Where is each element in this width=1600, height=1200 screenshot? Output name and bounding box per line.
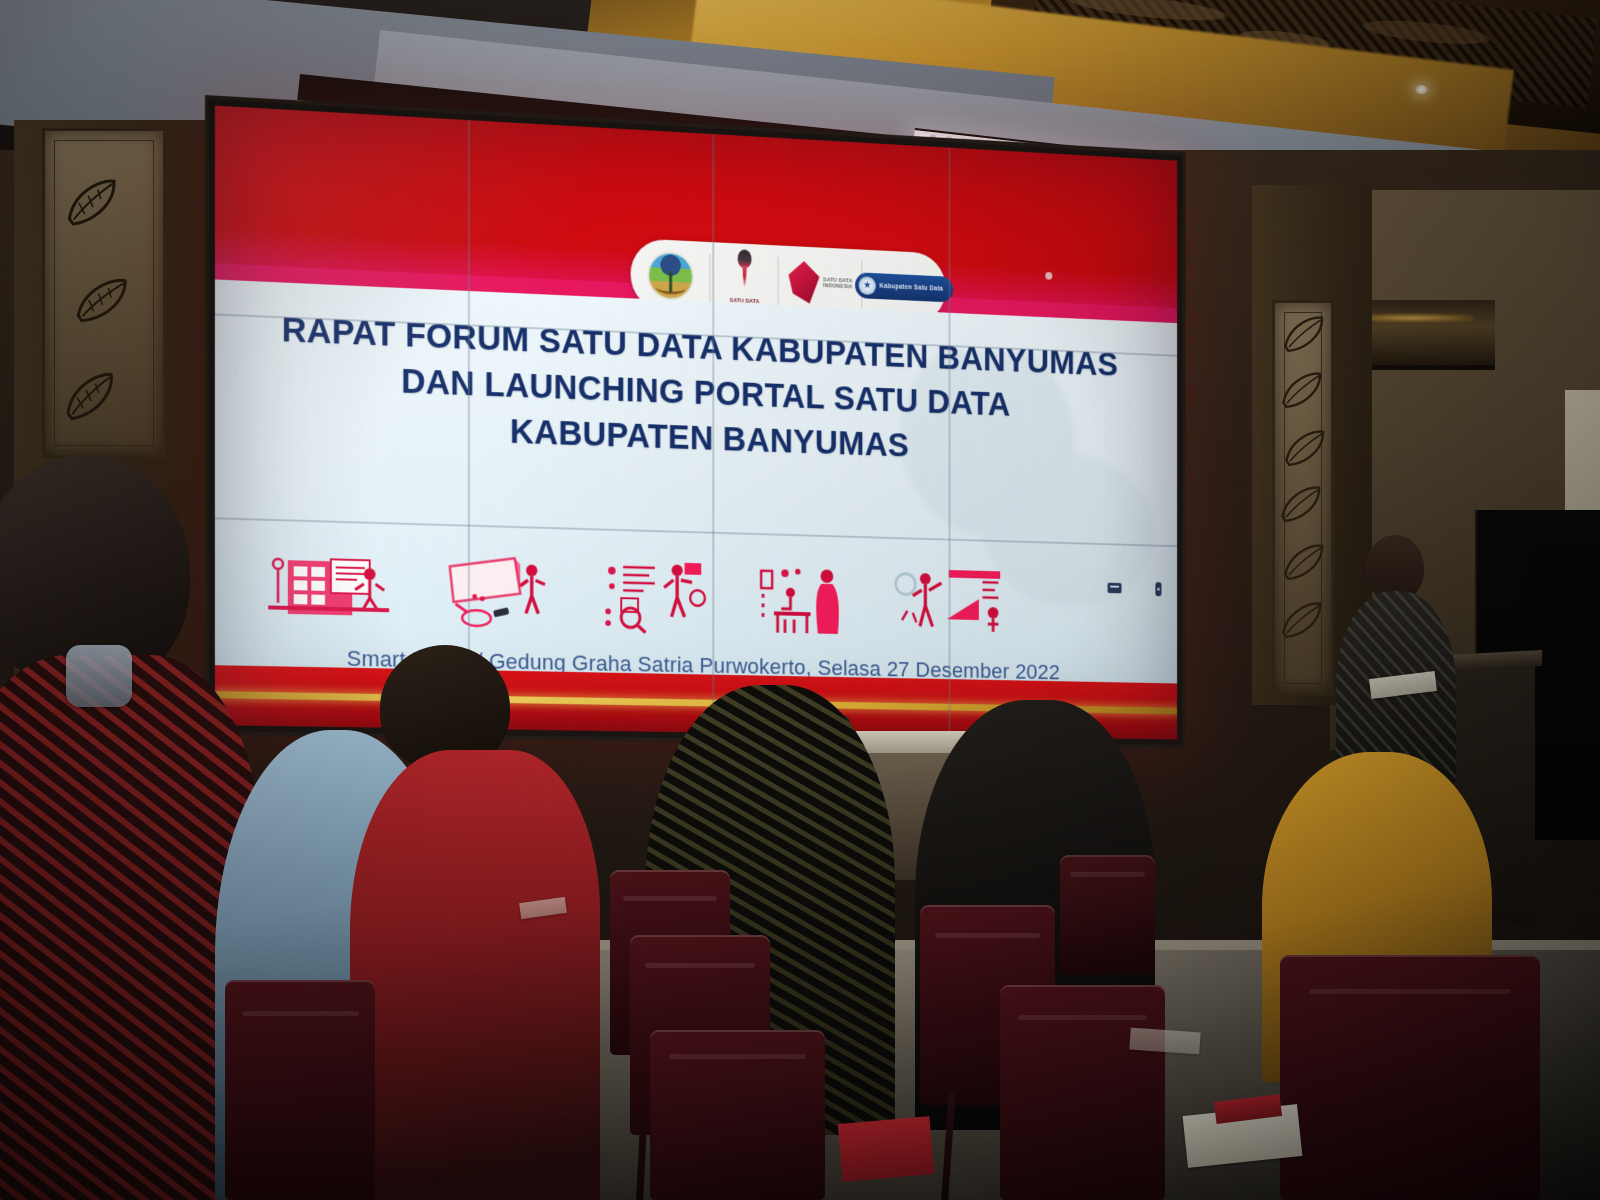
slide-body: RAPAT FORUM SATU DATA KABUPATEN BANYUMAS… xyxy=(215,279,1177,702)
chair[interactable] xyxy=(1060,855,1155,975)
audience-body xyxy=(350,750,600,1200)
videowall-seam xyxy=(949,148,951,737)
presentation-board-illustration xyxy=(440,552,554,631)
chair[interactable] xyxy=(650,1030,825,1200)
chart-presenter-illustration xyxy=(893,565,1009,642)
satu-data-indonesia-diamond-icon xyxy=(788,260,819,304)
videowall-seam xyxy=(468,120,470,729)
chair[interactable] xyxy=(1000,985,1165,1200)
paper-on-chair xyxy=(838,1116,935,1182)
torch-icon xyxy=(733,248,757,297)
kabupaten-satu-data-label: Kabupaten Satu Data xyxy=(879,282,943,292)
ceiling-spotlight xyxy=(1415,85,1428,94)
data-search-illustration xyxy=(595,557,714,636)
audience-member-3 xyxy=(350,645,600,1200)
slide-title: RAPAT FORUM SATU DATA KABUPATEN BANYUMAS… xyxy=(215,303,1177,477)
badge-mark-icon: ★ xyxy=(859,276,876,295)
chair[interactable] xyxy=(225,980,375,1200)
data-dashboard-illustration xyxy=(262,548,398,629)
slide-glyph-bar-icon xyxy=(1155,582,1161,596)
audience-mask xyxy=(66,645,132,707)
desk-meeting-illustration xyxy=(754,561,854,638)
carved-leaf-panel-left xyxy=(42,128,166,458)
meeting-room-photo: SATU DATABANYUMAS SATU DATAINDONESIA ★ K… xyxy=(0,0,1600,1200)
banyumas-regency-seal-icon xyxy=(647,251,693,302)
slide-glyph-window-icon xyxy=(1108,583,1122,594)
chair[interactable] xyxy=(1280,955,1540,1200)
logo-satu-data-indonesia-label: SATU DATAINDONESIA xyxy=(823,277,852,290)
videowall-seam xyxy=(712,134,714,733)
carved-leaf-panel-right xyxy=(1272,300,1334,696)
slide-header-dot xyxy=(1045,272,1052,280)
kabupaten-satu-data-badge-icon: ★ Kabupaten Satu Data xyxy=(855,272,953,302)
